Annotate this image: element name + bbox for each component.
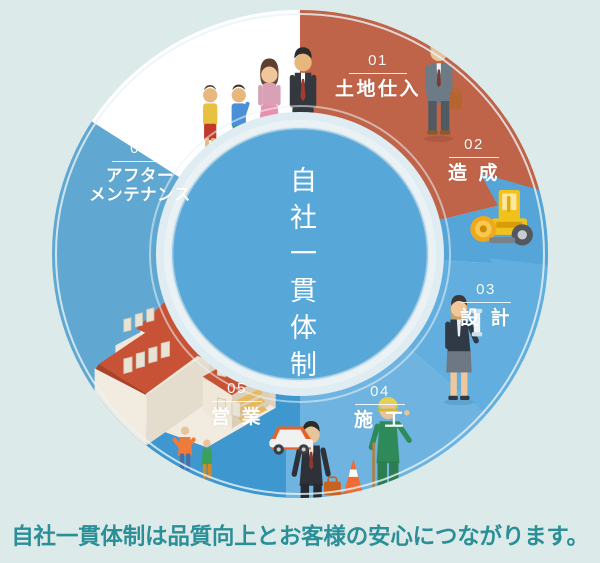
wheel-svg — [50, 8, 550, 500]
bottom-caption: 自社一貫体制は品質向上とお客様の安心につながります。 — [0, 519, 600, 551]
process-cycle-wheel — [50, 8, 550, 500]
infographic-root: 01 土地仕入 02 造 成 03 設 計 04 施 工 05 営 業 06 ア… — [0, 0, 600, 563]
